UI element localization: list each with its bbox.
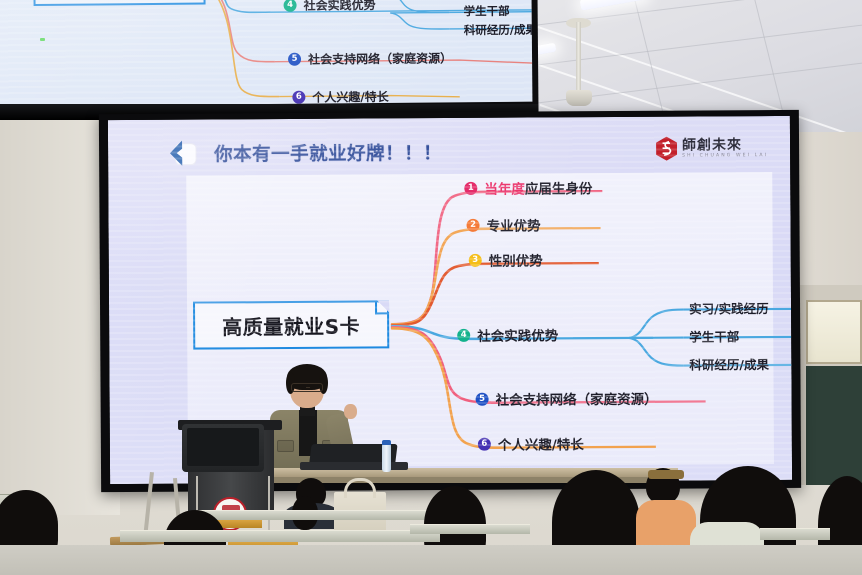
mindmap-item-3[interactable]: 3 性别优势 xyxy=(469,249,543,269)
top-branch-label-4: 社会实践优势 xyxy=(304,0,376,14)
top-badge-4: 4 xyxy=(284,0,297,12)
mindmap-subitem-4-2[interactable]: 学生干部 xyxy=(689,326,739,345)
photo-scene: 高质量就业S卡 4 社会实践优势 5 xyxy=(0,0,862,575)
desk-row-4 xyxy=(410,524,530,534)
mindmap-badge-5: 5 xyxy=(476,392,489,405)
mindmap-item-5[interactable]: 5 社会支持网络（家庭资源） xyxy=(476,388,658,409)
top-subitem-2: 学生干部 xyxy=(464,3,510,19)
monitor-power-led xyxy=(40,38,45,41)
presenter-hand xyxy=(344,404,357,419)
mindmap-badge-2: 2 xyxy=(466,218,479,231)
top-branch-item-4: 4 社会实践优势 xyxy=(284,0,376,14)
mindmap-label-1-rest: 应届生身份 xyxy=(525,181,593,197)
door-panel xyxy=(806,366,862,485)
projector-rod xyxy=(576,22,581,94)
mindmap-item-1[interactable]: 1 当年度应届生身份 xyxy=(464,177,592,198)
top-branch-item-5: 5 社会支持网络（家庭资源） xyxy=(288,49,452,67)
mindmap-badge-4: 4 xyxy=(457,328,470,341)
audience-hair-clip xyxy=(648,470,684,479)
mindmap-item-6[interactable]: 6 个人兴趣/特长 xyxy=(478,433,584,454)
top-branch-lines xyxy=(0,0,532,106)
top-badge-5: 5 xyxy=(288,53,301,66)
mindmap-label-1-highlight: 当年度 xyxy=(484,182,525,198)
mindmap-label-3: 性别优势 xyxy=(489,249,543,269)
door-window xyxy=(806,300,862,364)
tote-bag-handle xyxy=(344,478,376,498)
presenter-pocket-left xyxy=(277,440,294,452)
mindmap-subitem-4-3[interactable]: 科研经历/成果 xyxy=(689,354,769,373)
desk-row-2 xyxy=(120,530,440,542)
projector-head xyxy=(566,90,592,106)
audience-orange-top xyxy=(636,500,696,546)
mindmap-subitem-4-1[interactable]: 实习/实践经历 xyxy=(689,298,769,317)
mindmap-center-node[interactable]: 高质量就业S卡 xyxy=(193,300,389,349)
center-node-label: 高质量就业S卡 xyxy=(222,310,360,340)
top-subitem-3: 科研经历/成果 xyxy=(464,22,533,39)
mindmap-badge-1: 1 xyxy=(464,181,477,194)
secondary-display: 高质量就业S卡 4 社会实践优势 5 xyxy=(0,0,539,116)
mindmap-label-2: 专业优势 xyxy=(486,214,540,234)
top-branch-label-6: 个人兴趣/特长 xyxy=(312,88,389,106)
lectern-monitor-screen xyxy=(187,428,259,466)
top-badge-6: 6 xyxy=(292,91,305,104)
desk-row-1 xyxy=(196,510,456,520)
mindmap-item-2[interactable]: 2 专业优势 xyxy=(466,214,540,234)
water-bottle xyxy=(382,444,391,472)
water-bottle-cap xyxy=(382,440,391,445)
presenter-glasses xyxy=(291,383,323,392)
mindmap-item-4[interactable]: 4 社会实践优势 xyxy=(457,324,558,345)
top-branch-label-5: 社会支持网络（家庭资源） xyxy=(308,49,452,67)
lectern-monitor xyxy=(182,424,264,472)
laptop-base xyxy=(300,462,408,470)
mindmap-label-6: 个人兴趣/特长 xyxy=(498,433,584,454)
mindmap-label-4: 社会实践优势 xyxy=(477,324,558,344)
mindmap-badge-6: 6 xyxy=(478,437,491,450)
secondary-display-surface: 高质量就业S卡 4 社会实践优势 5 xyxy=(0,0,532,106)
mindmap-label-1: 当年度应届生身份 xyxy=(484,177,592,198)
wall-cable-2 xyxy=(268,476,270,536)
mindmap-badge-3: 3 xyxy=(469,253,482,266)
floor xyxy=(0,545,862,575)
desk-row-5 xyxy=(760,528,830,540)
mindmap-label-5: 社会支持网络（家庭资源） xyxy=(496,388,658,409)
node-fold-corner xyxy=(375,300,389,314)
